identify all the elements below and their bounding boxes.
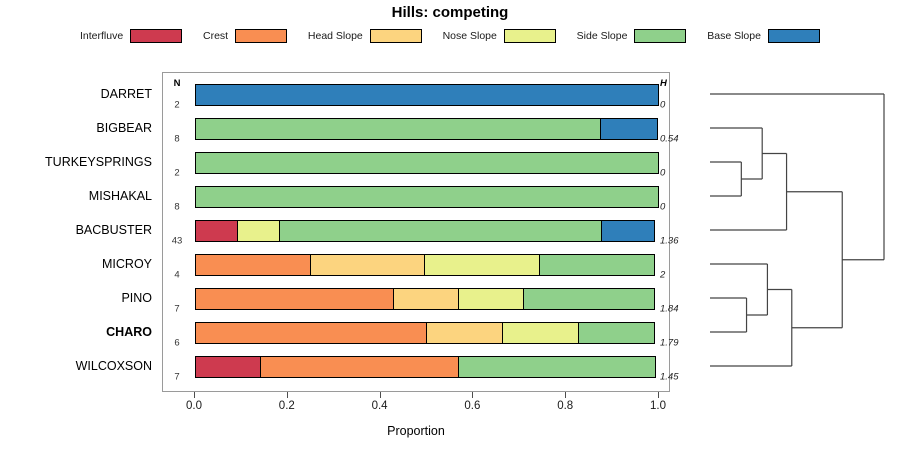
x-axis-tick	[194, 392, 195, 398]
x-axis-tick	[565, 392, 566, 398]
row-label: TURKEYSPRINGS	[0, 155, 152, 169]
chart-root: Hills: competing InterfluveCrestHead Slo…	[0, 0, 900, 460]
row-label: BACBUSTER	[0, 223, 152, 237]
bar-row	[195, 254, 659, 276]
x-axis-tick	[380, 392, 381, 398]
legend-item-label: Interfluve	[80, 30, 123, 42]
bar-segment	[237, 220, 280, 242]
legend-item-label: Head Slope	[308, 30, 363, 42]
n-value: 6	[162, 338, 192, 349]
bar-segment	[195, 356, 261, 378]
bar-segment	[426, 322, 503, 344]
x-axis-tick-label: 0.0	[169, 400, 219, 412]
x-axis-tick	[287, 392, 288, 398]
chart-title: Hills: competing	[0, 4, 900, 21]
bar-segment	[195, 118, 601, 140]
bar-segment	[523, 288, 655, 310]
n-value: 43	[162, 236, 192, 247]
x-axis-tick-label: 0.4	[355, 400, 405, 412]
bar-row	[195, 322, 659, 344]
bar-segment	[601, 220, 655, 242]
dendrogram-svg	[688, 72, 894, 392]
legend-item-label: Base Slope	[707, 30, 761, 42]
bar-segment	[195, 254, 311, 276]
bar-row	[195, 356, 659, 378]
n-column: N2828434767	[162, 72, 194, 392]
row-label-column: DARRETBIGBEARTURKEYSPRINGSMISHAKALBACBUS…	[0, 72, 160, 392]
bar-row	[195, 220, 659, 242]
x-axis-tick	[472, 392, 473, 398]
legend-item: Nose Slope	[443, 29, 556, 43]
x-axis-tick-label: 0.8	[540, 400, 590, 412]
bar-segment	[502, 322, 579, 344]
row-label: MISHAKAL	[0, 189, 152, 203]
bar-segment	[424, 254, 540, 276]
legend-item: Crest	[203, 29, 287, 43]
legend-swatch	[634, 29, 686, 43]
legend-item: Base Slope	[707, 29, 820, 43]
bar-segment	[458, 356, 657, 378]
x-axis-title: Proportion	[162, 424, 670, 438]
bar-segment	[393, 288, 459, 310]
x-axis: 0.00.20.40.60.81.0	[162, 392, 670, 428]
legend-item: Side Slope	[577, 29, 687, 43]
legend-swatch	[235, 29, 287, 43]
bar-segment	[195, 84, 659, 106]
n-value: 7	[162, 372, 192, 383]
x-axis-tick-label: 0.2	[262, 400, 312, 412]
bar-row	[195, 186, 659, 208]
stacked-bars	[163, 73, 671, 393]
legend-item: Head Slope	[308, 29, 422, 43]
row-label: MICROY	[0, 257, 152, 271]
x-axis-tick-label: 0.6	[447, 400, 497, 412]
n-column-header: N	[162, 78, 192, 89]
n-value: 4	[162, 270, 192, 281]
legend-item: Interfluve	[80, 29, 182, 43]
row-label: BIGBEAR	[0, 121, 152, 135]
n-value: 8	[162, 134, 192, 145]
bar-segment	[310, 254, 426, 276]
row-label: PINO	[0, 291, 152, 305]
x-axis-tick-label: 1.0	[633, 400, 683, 412]
bar-segment	[279, 220, 603, 242]
bar-segment	[195, 220, 238, 242]
legend-swatch	[370, 29, 422, 43]
legend-swatch	[768, 29, 820, 43]
bar-segment	[195, 322, 427, 344]
plot-panel	[162, 72, 670, 392]
legend: InterfluveCrestHead SlopeNose SlopeSide …	[80, 27, 820, 45]
legend-swatch	[504, 29, 556, 43]
bar-row	[195, 288, 659, 310]
bar-segment	[600, 118, 658, 140]
bar-segment	[195, 186, 659, 208]
x-axis-tick	[658, 392, 659, 398]
bar-row	[195, 84, 659, 106]
legend-item-label: Crest	[203, 30, 228, 42]
n-value: 2	[162, 168, 192, 179]
bar-row	[195, 118, 659, 140]
n-value: 2	[162, 100, 192, 111]
row-label: CHARO	[0, 325, 152, 339]
row-label: WILCOXSON	[0, 359, 152, 373]
legend-item-label: Side Slope	[577, 30, 628, 42]
bar-segment	[578, 322, 655, 344]
bar-row	[195, 152, 659, 174]
bar-segment	[195, 288, 394, 310]
legend-item-label: Nose Slope	[443, 30, 497, 42]
n-value: 7	[162, 304, 192, 315]
row-label: DARRET	[0, 87, 152, 101]
bar-segment	[539, 254, 655, 276]
bar-segment	[260, 356, 459, 378]
dendrogram	[688, 72, 894, 392]
n-value: 8	[162, 202, 192, 213]
bar-segment	[458, 288, 524, 310]
legend-swatch	[130, 29, 182, 43]
bar-segment	[195, 152, 659, 174]
